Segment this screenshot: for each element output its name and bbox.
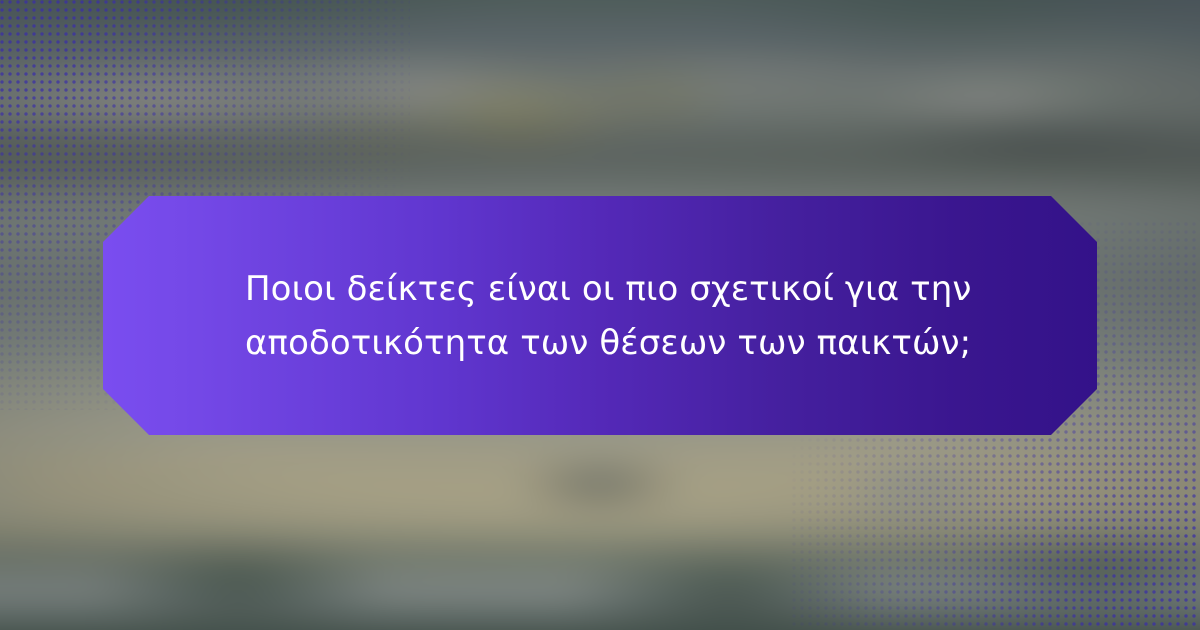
headline-text: Ποιοι δείκτες είναι οι πιο σχετικοί για … <box>245 196 975 435</box>
headline-banner: Ποιοι δείκτες είναι οι πιο σχετικοί για … <box>103 196 1097 435</box>
social-card: Ποιοι δείκτες είναι οι πιο σχετικοί για … <box>0 0 1200 630</box>
